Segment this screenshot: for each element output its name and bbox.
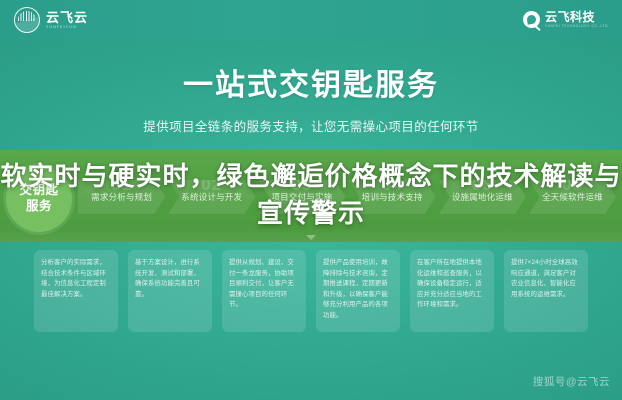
right-brand-name: 云飞科技 [545, 11, 608, 23]
right-brand-tagline: YUNFEI TECHNOLOGY CO.,LTD [545, 25, 608, 28]
step-label: 系统设计与开发 [173, 192, 250, 202]
right-brand-logo[interactable]: 云飞科技 YUNFEI TECHNOLOGY CO.,LTD [523, 11, 608, 28]
page-subtitle: 提供项目全链条的服务支持，让您无需操心项目的任何环节 [0, 116, 622, 135]
process-step[interactable]: 01 需求分析与规划 [78, 180, 165, 214]
step-label: 设施属地化运维 [444, 192, 521, 202]
right-brand-text: 云飞科技 YUNFEI TECHNOLOGY CO.,LTD [545, 11, 608, 28]
process-step[interactable]: 04 培训与技术支持 [349, 180, 436, 214]
process-step[interactable]: 05 设施属地化运维 [439, 180, 526, 214]
left-brand-text: 云飞云 YUNFEIYUN [46, 11, 88, 30]
process-step[interactable]: 06 全天候软件运维 [529, 180, 616, 214]
step-label: 培训与技术支持 [354, 192, 431, 202]
card-text: 提供从规划、建设、交付一条龙服务，协助项目顺利交付，让客户无需操心项目的任何环节… [229, 258, 299, 311]
detail-card: 提供产品使用培训，故障排除与技术咨询，定期推送课程，定期更新和升级，以确保客户能… [316, 250, 400, 332]
page-title: 一站式交钥匙服务 [0, 60, 622, 104]
step-label: 全天候软件运维 [534, 192, 611, 202]
process-step[interactable]: 03 项目交付与实施 [258, 180, 345, 214]
process-band: 交钥匙 服务 01 需求分析与规划 02 系统设计与开发 03 项目交付与实施 … [0, 150, 622, 242]
detail-card: 基于方案设计，进行系统开发、测试和部署，确保系统功能完善且可靠。 [128, 250, 212, 332]
process-step-list: 01 需求分析与规划 02 系统设计与开发 03 项目交付与实施 04 培训与技… [78, 180, 616, 214]
card-text: 提供产品使用培训，故障排除与技术咨询，定期推送课程，定期更新和升级，以确保客户能… [323, 258, 393, 321]
detail-card-list: 分析客户的实际需求，结合技术条件与区域环境，为信息化工程定制最佳解决方案。 基于… [34, 250, 588, 332]
badge-line-1: 交钥匙 [19, 183, 58, 199]
detail-card: 分析客户的实际需求，结合技术条件与区域环境，为信息化工程定制最佳解决方案。 [34, 250, 118, 332]
top-header-bar: 云飞云 YUNFEIYUN 云飞科技 YUNFEI TECHNOLOGY CO.… [0, 0, 622, 40]
left-brand-tagline: YUNFEIYUN [46, 26, 88, 30]
left-brand-name: 云飞云 [46, 11, 88, 24]
card-text: 分析客户的实际需求，结合技术条件与区域环境，为信息化工程定制最佳解决方案。 [41, 258, 111, 300]
card-text: 提供7×24小时全球高效响应通道，满足客户对农业信息化、智能化应用系统的运维需求… [511, 258, 581, 300]
left-brand-logo[interactable]: 云飞云 YUNFEIYUN [14, 7, 88, 33]
detail-card: 在客户所在地提供本地化运维和巡查服务，以确保设备稳定运行，适应并充分适应当地的工… [410, 250, 494, 332]
step-label: 需求分析与规划 [83, 192, 160, 202]
leaf-circle-logo-icon [523, 11, 540, 28]
turnkey-service-badge: 交钥匙 服务 [6, 166, 72, 232]
page-root: 云飞云 YUNFEIYUN 云飞科技 YUNFEI TECHNOLOGY CO.… [0, 0, 622, 400]
field-circle-logo-icon [14, 7, 40, 33]
process-step[interactable]: 02 系统设计与开发 [168, 180, 255, 214]
chevron-down-icon [306, 235, 316, 240]
source-watermark: 搜狐号@云飞云 [533, 374, 610, 389]
badge-line-2: 服务 [26, 199, 52, 215]
step-label: 项目交付与实施 [263, 192, 340, 202]
card-text: 在客户所在地提供本地化运维和巡查服务，以确保设备稳定运行，适应并充分适应当地的工… [417, 258, 487, 311]
detail-card: 提供7×24小时全球高效响应通道，满足客户对农业信息化、智能化应用系统的运维需求… [504, 250, 588, 332]
card-text: 基于方案设计，进行系统开发、测试和部署，确保系统功能完善且可靠。 [135, 258, 205, 300]
detail-card: 提供从规划、建设、交付一条龙服务，协助项目顺利交付，让客户无需操心项目的任何环节… [222, 250, 306, 332]
hero-section: 一站式交钥匙服务 提供项目全链条的服务支持，让您无需操心项目的任何环节 [0, 60, 622, 135]
